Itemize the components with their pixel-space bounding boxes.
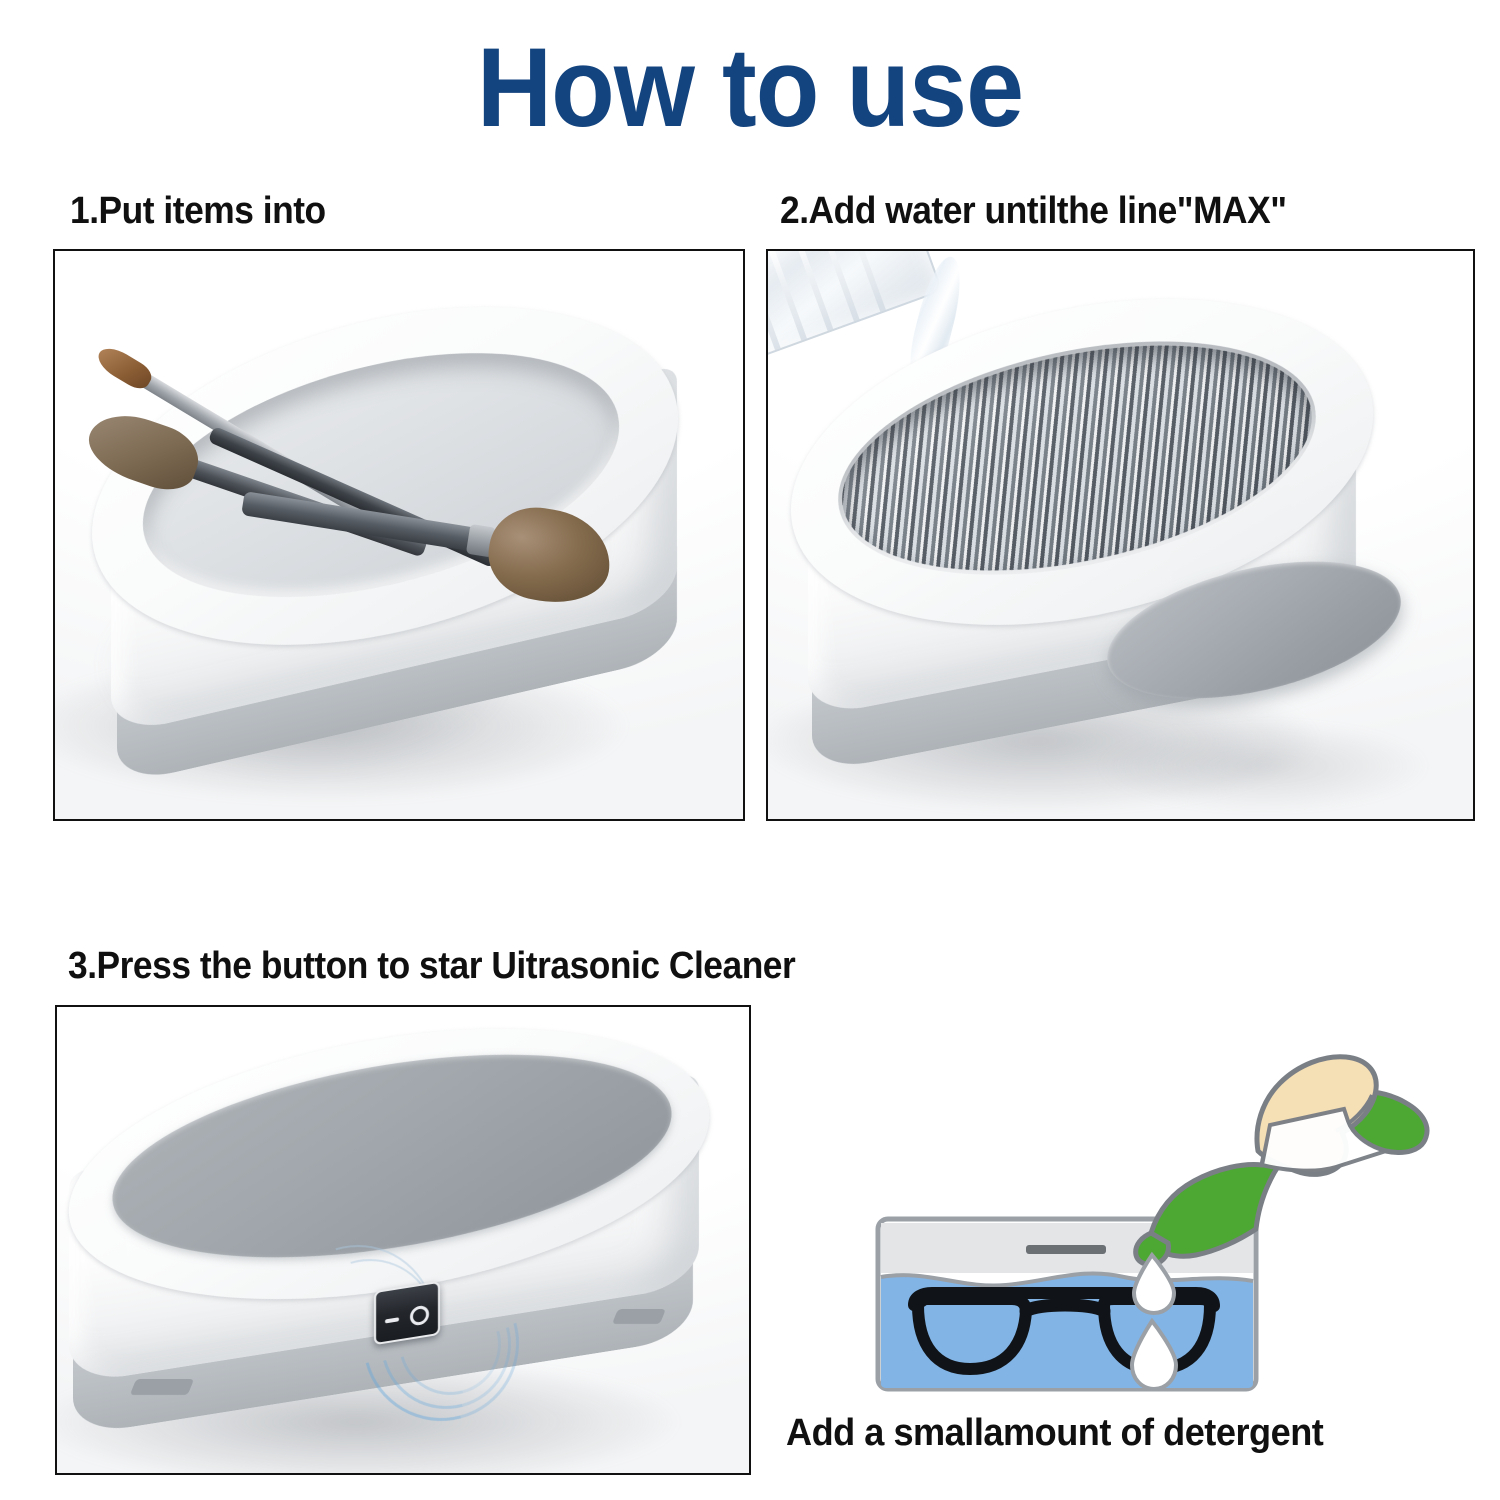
- detergent-caption: Add a smallamount of detergent: [786, 1412, 1323, 1455]
- how-to-use-infographic: How to use 1.Put items into: [0, 0, 1500, 1500]
- step-1-scene: [55, 251, 743, 819]
- step-1-heading: 1.Put items into: [70, 190, 326, 233]
- max-line: [1026, 1245, 1106, 1254]
- switch-on-mark: [385, 1317, 399, 1323]
- step-2-photo: [766, 249, 1475, 821]
- device-foot-right: [612, 1309, 666, 1324]
- step-2-scene: [768, 251, 1473, 819]
- glasses-hinge-left: [916, 1295, 928, 1307]
- power-switch[interactable]: [374, 1281, 440, 1345]
- step-3-heading: 3.Press the button to star Uitrasonic Cl…: [68, 945, 795, 988]
- glasses-hinge-right: [1206, 1295, 1218, 1307]
- step-3-scene: [57, 1007, 749, 1473]
- step-3-photo: [55, 1005, 751, 1475]
- makeup-brushes-group: [125, 329, 645, 629]
- step-2-heading: 2.Add water untilthe line"MAX": [780, 190, 1287, 233]
- detergent-illustration: [866, 1005, 1476, 1405]
- switch-off-mark: [410, 1305, 429, 1327]
- ultrasonic-cleaner-open: [77, 311, 717, 771]
- device-foot-left: [130, 1379, 194, 1395]
- ultrasonic-cleaner-filling: [786, 279, 1386, 779]
- page-title: How to use: [53, 26, 1448, 149]
- step-1-photo: [53, 249, 745, 821]
- ultrasonic-cleaner-closed: [63, 1027, 723, 1447]
